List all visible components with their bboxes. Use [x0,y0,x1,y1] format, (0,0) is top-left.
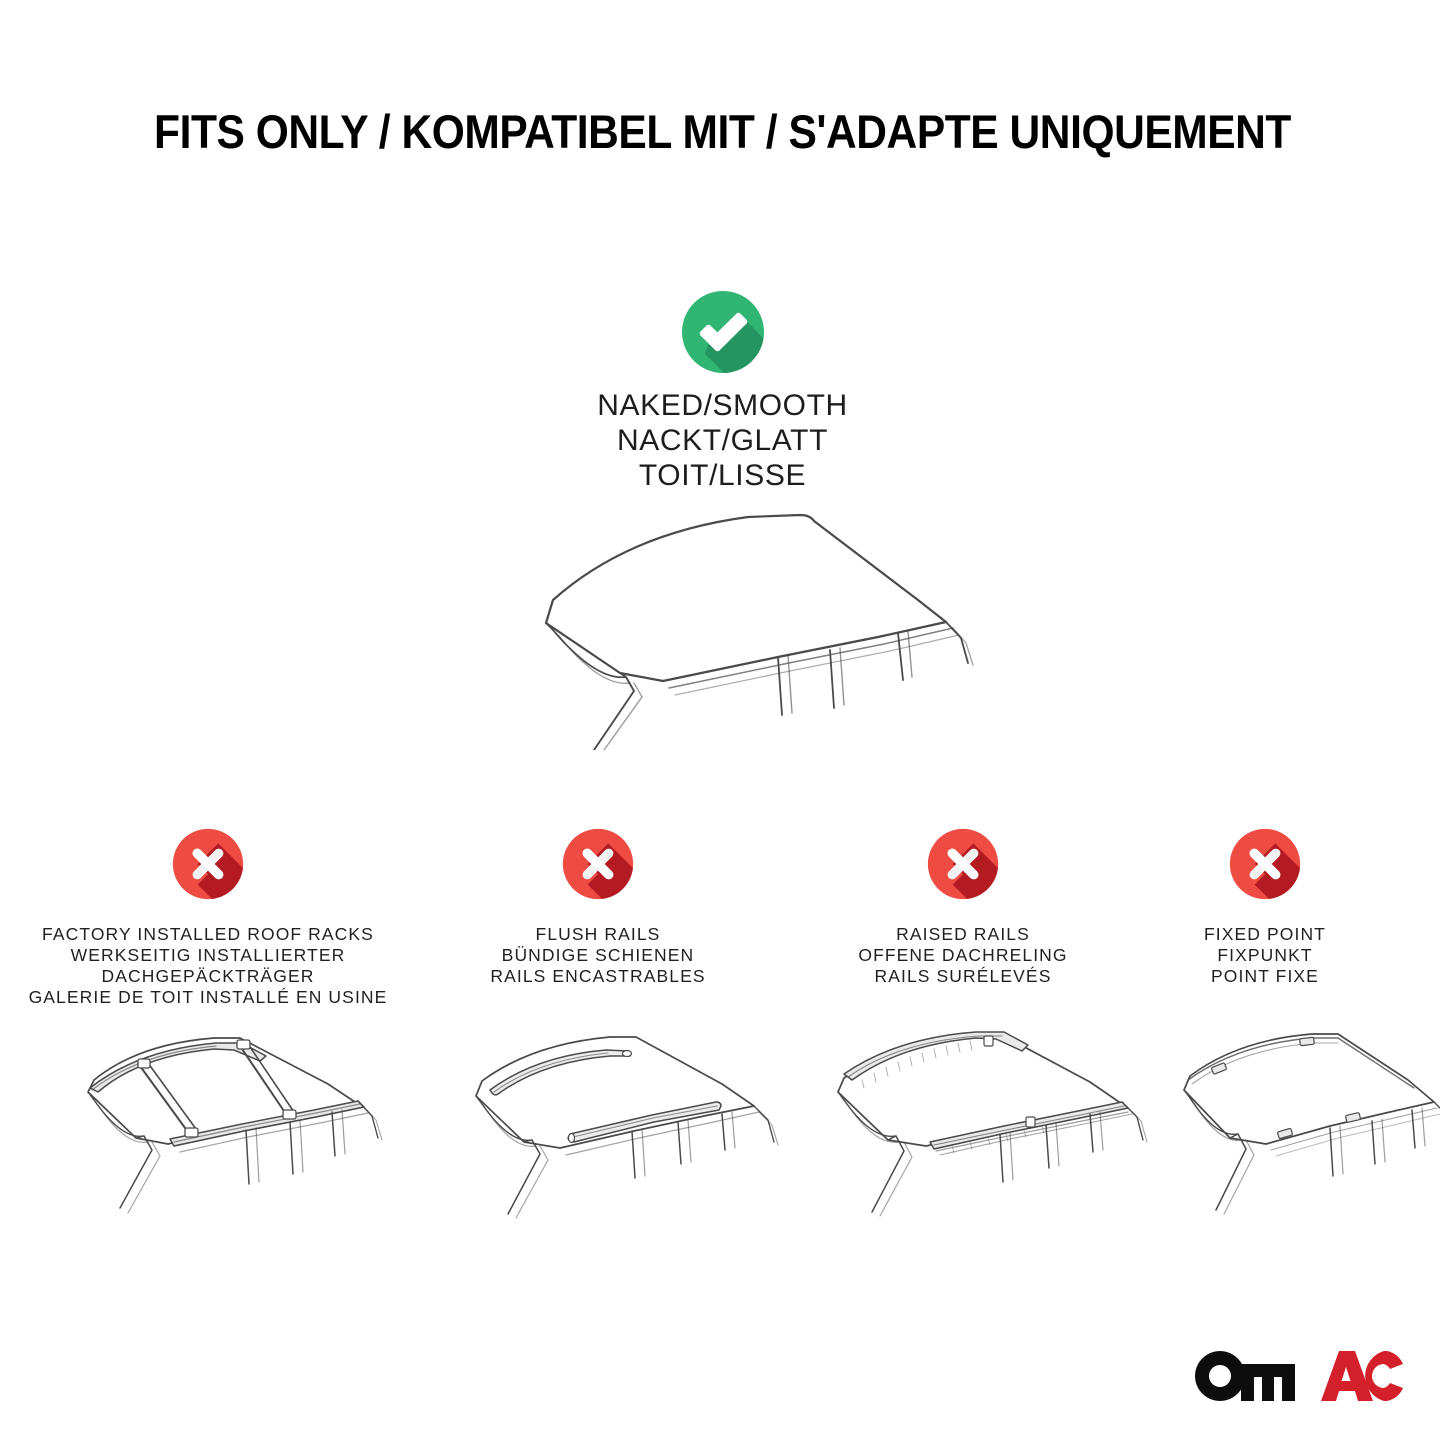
car-roof-factory-rack-illustration [28,1018,403,1243]
label-line: BÜNDIGE SCHIENEN [408,945,788,966]
red-x-circle-icon [927,828,999,900]
red-x-circle-icon [1229,828,1301,900]
label-line: RAILS SURÉLEVÉS [773,966,1153,987]
compatibility-infographic: FITS ONLY / KOMPATIBEL MIT / S'ADAPTE UN… [0,0,1445,1445]
car-roof-fixed-point-illustration [1140,1018,1440,1243]
omac-logo-dark [1195,1351,1295,1401]
compatible-label-line-1: NAKED/SMOOTH [0,388,1445,423]
red-x-circle-icon [562,828,634,900]
incompatible-item-flush-rails: FLUSH RAILS BÜNDIGE SCHIENEN RAILS ENCAS… [408,828,788,987]
compatible-label: NAKED/SMOOTH NACKT/GLATT TOIT/LISSE [0,388,1445,493]
label-line: FIXED POINT [1115,924,1415,945]
incompatible-item-factory-installed-roof-racks: FACTORY INSTALLED ROOF RACKS WERKSEITIG … [13,828,403,1008]
page-title: FITS ONLY / KOMPATIBEL MIT / S'ADAPTE UN… [69,104,1377,160]
car-roof-flush-rails-illustration [420,1018,795,1243]
label-line: RAILS ENCASTRABLES [408,966,788,987]
label-line: FIXPUNKT [1115,945,1415,966]
omac-logo [1193,1345,1403,1407]
label-line: FLUSH RAILS [408,924,788,945]
red-x-circle-icon [172,828,244,900]
incompatible-item-raised-rails: RAISED RAILS OFFENE DACHRELING RAILS SUR… [773,828,1153,987]
label-line: GALERIE DE TOIT INSTALLÉ EN USINE [13,987,403,1008]
incompatible-item-fixed-point: FIXED POINT FIXPUNKT POINT FIXE [1115,828,1415,987]
incompatible-label-flush-rails: FLUSH RAILS BÜNDIGE SCHIENEN RAILS ENCAS… [408,924,788,987]
label-line: FACTORY INSTALLED ROOF RACKS [13,924,403,945]
compatible-section: NAKED/SMOOTH NACKT/GLATT TOIT/LISSE [0,290,1445,493]
car-roof-naked-smooth-illustration [448,495,1008,750]
incompatible-label-factory-installed-roof-racks: FACTORY INSTALLED ROOF RACKS WERKSEITIG … [13,924,403,1008]
omac-logo-red [1321,1351,1403,1401]
car-roof-raised-rails-illustration [788,1018,1163,1243]
label-line: RAISED RAILS [773,924,1153,945]
compatible-label-line-2: NACKT/GLATT [0,423,1445,458]
label-line: POINT FIXE [1115,966,1415,987]
incompatible-label-fixed-point: FIXED POINT FIXPUNKT POINT FIXE [1115,924,1415,987]
green-check-circle-icon [681,290,765,374]
compatible-label-line-3: TOIT/LISSE [0,458,1445,493]
incompatible-label-raised-rails: RAISED RAILS OFFENE DACHRELING RAILS SUR… [773,924,1153,987]
label-line: WERKSEITIG INSTALLIERTER [13,945,403,966]
label-line: DACHGEPÄCKTRÄGER [13,966,403,987]
label-line: OFFENE DACHRELING [773,945,1153,966]
